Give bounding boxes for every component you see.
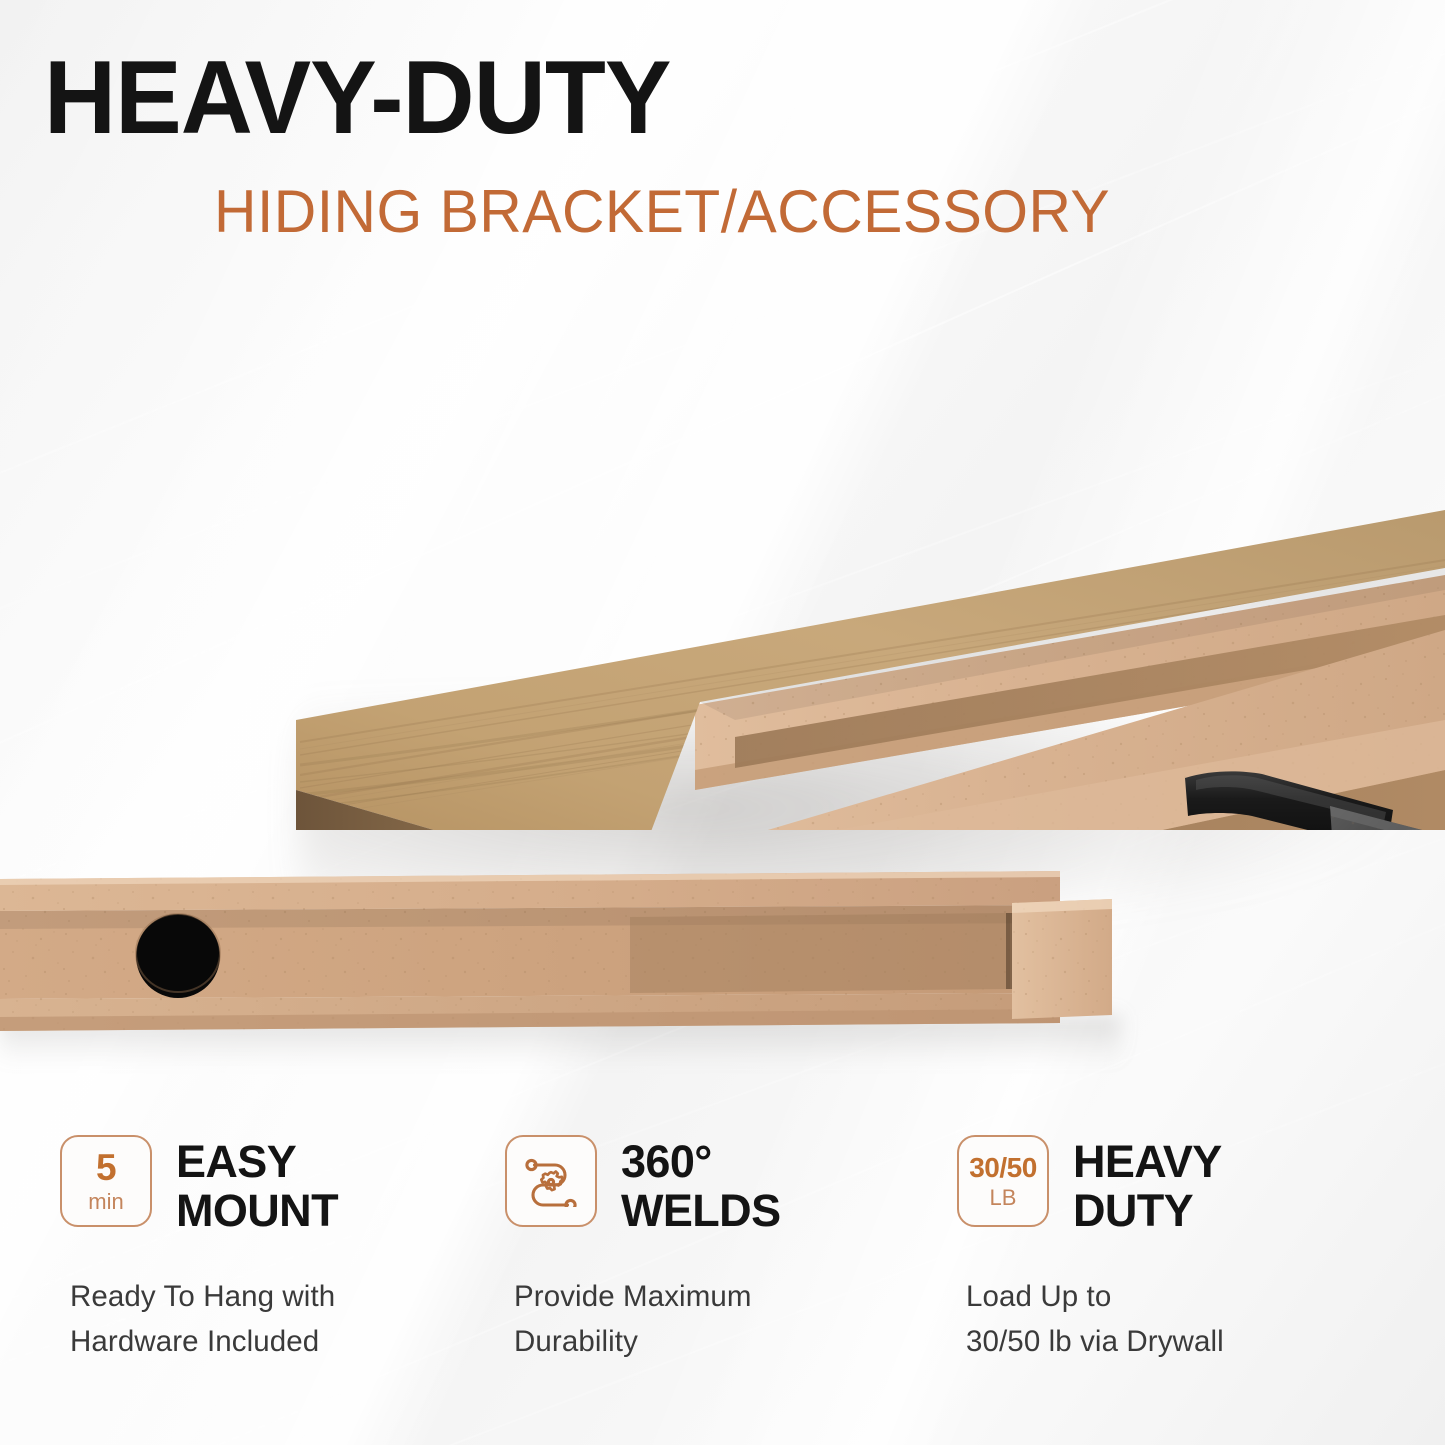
feature-easy-mount: 5 min EASY MOUNT Ready To Hang with Hard… xyxy=(0,1135,490,1445)
feature-description: Provide Maximum Durability xyxy=(514,1275,952,1365)
feature-description-line1: Ready To Hang with xyxy=(70,1275,490,1320)
weld-path-gear-icon xyxy=(523,1155,579,1207)
shelf-illustration xyxy=(0,250,1445,830)
feature-heading: 360° WELDS xyxy=(621,1135,781,1235)
channel-mounting-hole xyxy=(136,914,220,998)
feature-description-line1: Load Up to xyxy=(966,1275,1445,1320)
page-title: HEAVY-DUTY xyxy=(44,46,670,150)
feature-description-line2: Durability xyxy=(514,1320,952,1365)
feature-description-line1: Provide Maximum xyxy=(514,1275,952,1320)
duration-badge-unit: min xyxy=(88,1191,123,1213)
feature-description-line2: Hardware Included xyxy=(70,1320,490,1365)
duration-badge-value: 5 xyxy=(96,1149,116,1186)
duration-badge: 5 min xyxy=(60,1135,152,1227)
load-capacity-value: 30/50 xyxy=(969,1154,1037,1182)
feature-description: Load Up to 30/50 lb via Drywall xyxy=(966,1275,1445,1365)
floating-shelf-with-hidden-bracket-photo xyxy=(0,250,1445,830)
load-capacity-unit: LB xyxy=(990,1187,1017,1209)
feature-heading-line2: DUTY xyxy=(1073,1186,1222,1235)
feature-heading-line2: WELDS xyxy=(621,1186,781,1235)
weld-path-gear-badge xyxy=(505,1135,597,1227)
feature-description: Ready To Hang with Hardware Included xyxy=(70,1275,490,1365)
infographic-page: HEAVY-DUTY HIDING BRACKET/ACCESSORY xyxy=(0,0,1445,1445)
feature-heading-line2: MOUNT xyxy=(176,1186,338,1235)
feature-heading-line1: EASY xyxy=(176,1137,338,1186)
feature-heading: HEAVY DUTY xyxy=(1073,1135,1222,1235)
feature-heading-line1: HEAVY xyxy=(1073,1137,1222,1186)
shelf-channel-cutaway-photo xyxy=(0,865,1120,1045)
feature-heading: EASY MOUNT xyxy=(176,1135,338,1235)
page-subtitle: HIDING BRACKET/ACCESSORY xyxy=(214,182,1110,242)
load-capacity-badge: 30/50 LB xyxy=(957,1135,1049,1227)
feature-heading-line1: 360° xyxy=(621,1137,781,1186)
channel-illustration xyxy=(0,865,1120,1045)
feature-heavy-duty: 30/50 LB HEAVY DUTY Load Up to 30/50 lb … xyxy=(952,1135,1445,1445)
feature-360-welds: 360° WELDS Provide Maximum Durability xyxy=(490,1135,952,1445)
feature-list: 5 min EASY MOUNT Ready To Hang with Hard… xyxy=(0,1135,1445,1445)
feature-description-line2: 30/50 lb via Drywall xyxy=(966,1320,1445,1365)
